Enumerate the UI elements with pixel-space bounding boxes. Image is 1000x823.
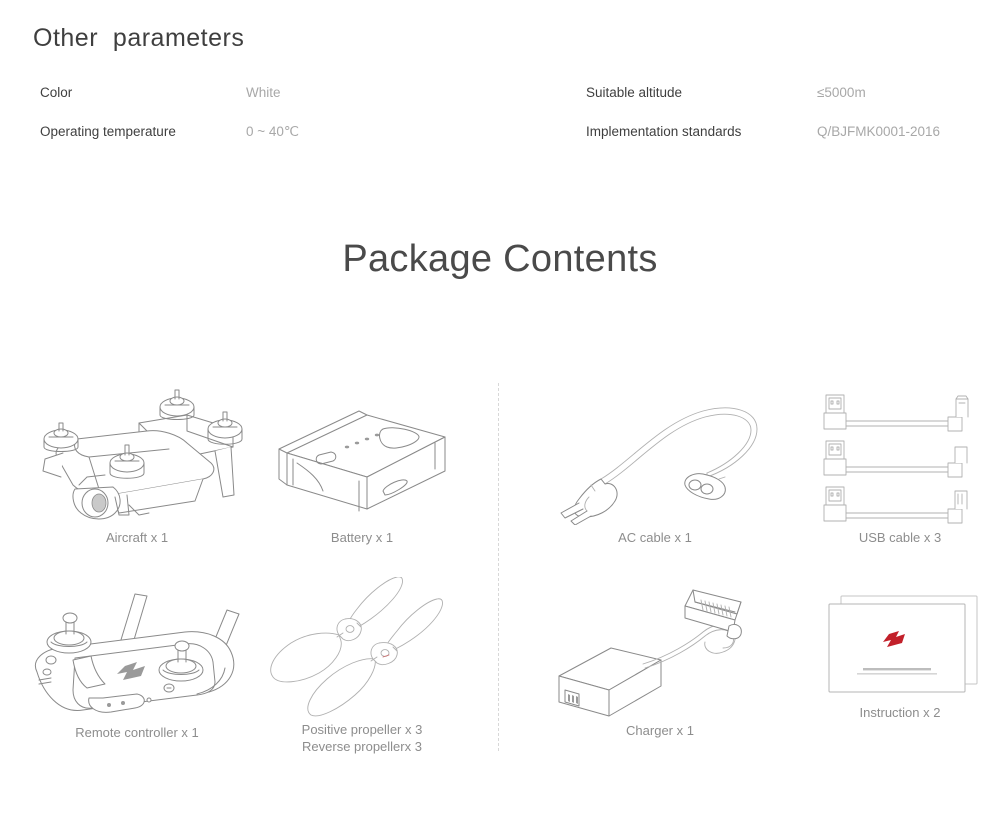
drone-aircraft-icon — [8, 385, 266, 525]
battery-pack-icon — [262, 385, 462, 525]
section-title: Other parameters — [33, 24, 244, 53]
spec-label: Operating temperature — [40, 122, 176, 142]
ac-power-cable-icon — [530, 385, 780, 525]
remote-controller-icon — [8, 580, 266, 720]
usb-cable-icon — [805, 385, 995, 525]
other-parameters-section: Other parameters Color White Operating t… — [0, 0, 1000, 200]
package-item-label: Battery x 1 — [262, 529, 462, 546]
spec-label: Implementation standards — [586, 122, 741, 142]
package-item-aircraft: Aircraft x 1 — [8, 385, 266, 546]
package-item-usb-cable: USB cable x 3 — [805, 385, 995, 546]
package-contents-grid: Aircraft x 1 — [0, 380, 1000, 780]
package-item-propellers: Positive propeller x 3 Reverse propeller… — [262, 577, 462, 755]
package-item-label: Charger x 1 — [540, 722, 780, 739]
instruction-manual-icon — [805, 590, 995, 700]
spec-row-suitable-altitude: Suitable altitude ≤5000m — [586, 83, 986, 103]
package-item-battery: Battery x 1 — [262, 385, 462, 546]
spec-row-color: Color White — [40, 83, 510, 103]
spec-label: Suitable altitude — [586, 83, 682, 103]
spec-label: Color — [40, 83, 72, 103]
package-item-label: Remote controller x 1 — [8, 724, 266, 741]
package-item-ac-cable: AC cable x 1 — [530, 385, 780, 546]
propellers-icon — [262, 577, 462, 717]
package-item-instruction: Instruction x 2 — [805, 590, 995, 721]
spec-row-implementation-standards: Implementation standards Q/BJFMK0001-201… — [586, 122, 986, 142]
spec-row-operating-temperature: Operating temperature 0 ~ 40℃ — [40, 122, 510, 142]
charger-brick-icon — [540, 578, 780, 718]
package-item-remote-controller: Remote controller x 1 — [8, 580, 266, 741]
package-item-label: USB cable x 3 — [805, 529, 995, 546]
package-item-label: Positive propeller x 3 Reverse propeller… — [262, 721, 462, 755]
package-item-label: AC cable x 1 — [530, 529, 780, 546]
spec-value: 0 ~ 40℃ — [246, 122, 299, 142]
spec-value: White — [246, 83, 281, 103]
package-contents-heading: Package Contents — [0, 238, 1000, 281]
package-item-label: Instruction x 2 — [805, 704, 995, 721]
spec-value: Q/BJFMK0001-2016 — [817, 122, 940, 142]
package-item-label: Aircraft x 1 — [8, 529, 266, 546]
spec-value: ≤5000m — [817, 83, 866, 103]
package-item-charger: Charger x 1 — [540, 578, 780, 739]
